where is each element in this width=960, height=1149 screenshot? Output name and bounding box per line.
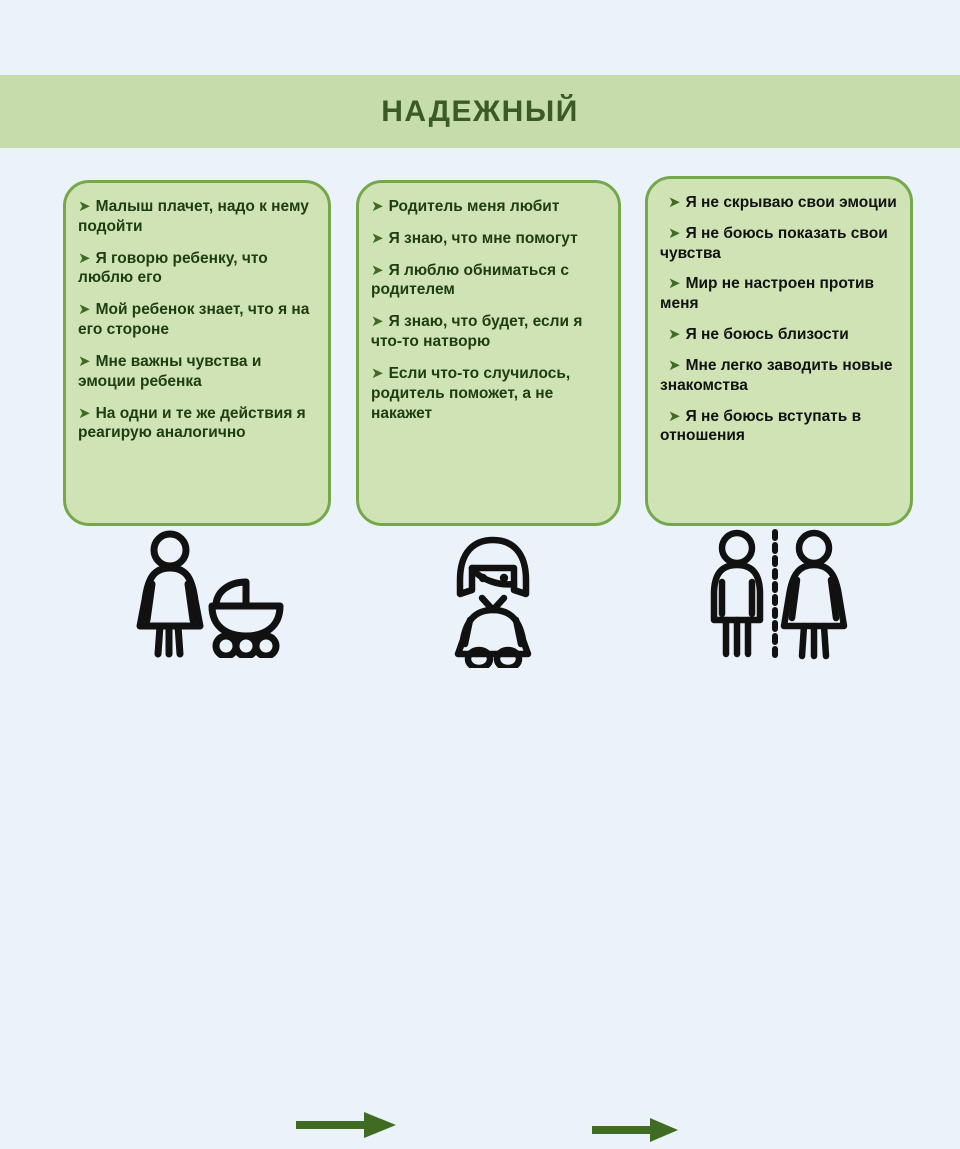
list-item-label: Родитель меня любит: [389, 198, 560, 215]
list-item: ➤Я знаю, что будет, если я что-то натвор…: [371, 312, 606, 352]
list-item-label: Я люблю обниматься с родителем: [371, 262, 569, 299]
arrow-bullet-icon: ➤: [78, 198, 96, 215]
arrow-bullet-icon: ➤: [660, 275, 686, 292]
arrow-bullet-icon: ➤: [78, 405, 96, 422]
arrow-bullet-icon: ➤: [78, 353, 96, 370]
icon-row: [0, 528, 960, 678]
arrow-bullet-icon: ➤: [660, 357, 686, 374]
arrow-bullet-icon: ➤: [660, 194, 686, 211]
list-item-label: Я говорю ребенку, что люблю его: [78, 250, 268, 287]
list-item: ➤Если что-то случилось, родитель поможет…: [371, 364, 606, 423]
list-item: ➤Я люблю обниматься с родителем: [371, 261, 606, 301]
card-child-stage: ➤Родитель меня любит ➤Я знаю, что мне по…: [356, 180, 621, 526]
arrow-bullet-icon: ➤: [78, 301, 96, 318]
bullet-list: ➤Я не скрываю свои эмоции ➤Я не боюсь по…: [660, 193, 898, 446]
arrow-bullet-icon: ➤: [371, 365, 389, 382]
list-item-label: Мне легко заводить новые знакомства: [660, 357, 893, 394]
girl-icon: [438, 528, 548, 673]
list-item: ➤Мне легко заводить новые знакомства: [660, 356, 898, 396]
list-item-label: Я знаю, что мне помогут: [389, 230, 578, 247]
arrow-right-icon-1: [296, 1110, 400, 1145]
list-item: ➤Я говорю ребенку, что люблю его: [78, 249, 316, 289]
list-item-label: Если что-то случилось, родитель поможет,…: [371, 365, 570, 422]
list-item: ➤Я не боюсь близости: [660, 325, 898, 345]
card-adult-stage: ➤Я не скрываю свои эмоции ➤Я не боюсь по…: [645, 176, 913, 526]
list-item: ➤Я не боюсь показать свои чувства: [660, 224, 898, 264]
list-item-label: Мой ребенок знает, что я на его стороне: [78, 301, 309, 338]
page-title: НАДЕЖНЫЙ: [381, 95, 579, 129]
list-item-label: Я не боюсь вступать в отношения: [660, 408, 861, 445]
mother-with-pram-icon: [128, 528, 288, 663]
list-item: ➤Малыш плачет, надо к нему подойти: [78, 197, 316, 237]
arrow-bullet-icon: ➤: [371, 230, 389, 247]
arrow-bullet-icon: ➤: [371, 262, 389, 279]
list-item: ➤Я знаю, что мне помогут: [371, 229, 606, 249]
list-item-label: Я не боюсь показать свои чувства: [660, 225, 888, 262]
list-item: ➤Мне важны чувства и эмоции ребенка: [78, 352, 316, 392]
bullet-list: ➤Малыш плачет, надо к нему подойти ➤Я го…: [78, 197, 316, 443]
arrow-bullet-icon: ➤: [660, 326, 686, 343]
arrow-bullet-icon: ➤: [78, 250, 96, 267]
list-item: ➤Мир не настроен против меня: [660, 274, 898, 314]
slide-root: НАДЕЖНЫЙ ➤Малыш плачет, надо к нему подо…: [0, 0, 960, 720]
list-item-label: Малыш плачет, надо к нему подойти: [78, 198, 309, 235]
arrow-bullet-icon: ➤: [660, 225, 686, 242]
list-item-label: Я не скрываю свои эмоции: [686, 194, 897, 211]
card-baby-stage: ➤Малыш плачет, надо к нему подойти ➤Я го…: [63, 180, 331, 526]
arrow-right-icon-2: [592, 1116, 682, 1149]
list-item-label: На одни и те же действия я реагирую анал…: [78, 405, 306, 442]
list-item: ➤Я не боюсь вступать в отношения: [660, 407, 898, 447]
list-item-label: Я не боюсь близости: [686, 326, 849, 343]
couple-icon: [700, 528, 850, 665]
title-band: НАДЕЖНЫЙ: [0, 75, 960, 148]
list-item-label: Мир не настроен против меня: [660, 275, 874, 312]
list-item: ➤Родитель меня любит: [371, 197, 606, 217]
list-item: ➤Мой ребенок знает, что я на его стороне: [78, 300, 316, 340]
arrow-bullet-icon: ➤: [660, 408, 686, 425]
bullet-list: ➤Родитель меня любит ➤Я знаю, что мне по…: [371, 197, 606, 423]
arrow-bullet-icon: ➤: [371, 198, 389, 215]
list-item-label: Мне важны чувства и эмоции ребенка: [78, 353, 261, 390]
list-item: ➤На одни и те же действия я реагирую ана…: [78, 404, 316, 444]
list-item: ➤Я не скрываю свои эмоции: [660, 193, 898, 213]
list-item-label: Я знаю, что будет, если я что-то натворю: [371, 313, 582, 350]
arrow-bullet-icon: ➤: [371, 313, 389, 330]
